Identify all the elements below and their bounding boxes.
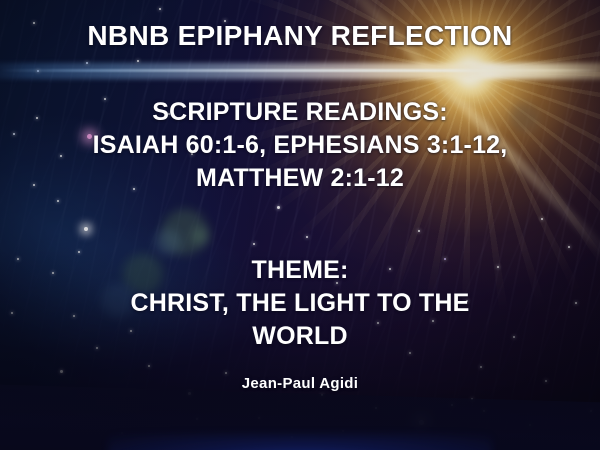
author-name: Jean-Paul Agidi <box>0 375 600 392</box>
theme-line-2: WORLD <box>0 322 600 351</box>
slide-title: NBNB EPIPHANY REFLECTION <box>0 20 600 52</box>
theme-line-1: CHRIST, THE LIGHT TO THE <box>0 289 600 318</box>
epiphany-reflection-slide: NBNB EPIPHANY REFLECTION SCRIPTURE READI… <box>0 0 600 450</box>
scripture-heading: SCRIPTURE READINGS: <box>0 98 600 127</box>
scripture-line-2: MATTHEW 2:1-12 <box>0 164 600 193</box>
theme-heading: THEME: <box>0 256 600 285</box>
slide-text-content: NBNB EPIPHANY REFLECTION SCRIPTURE READI… <box>0 0 600 450</box>
scripture-line-1: ISAIAH 60:1-6, EPHESIANS 3:1-12, <box>0 131 600 160</box>
